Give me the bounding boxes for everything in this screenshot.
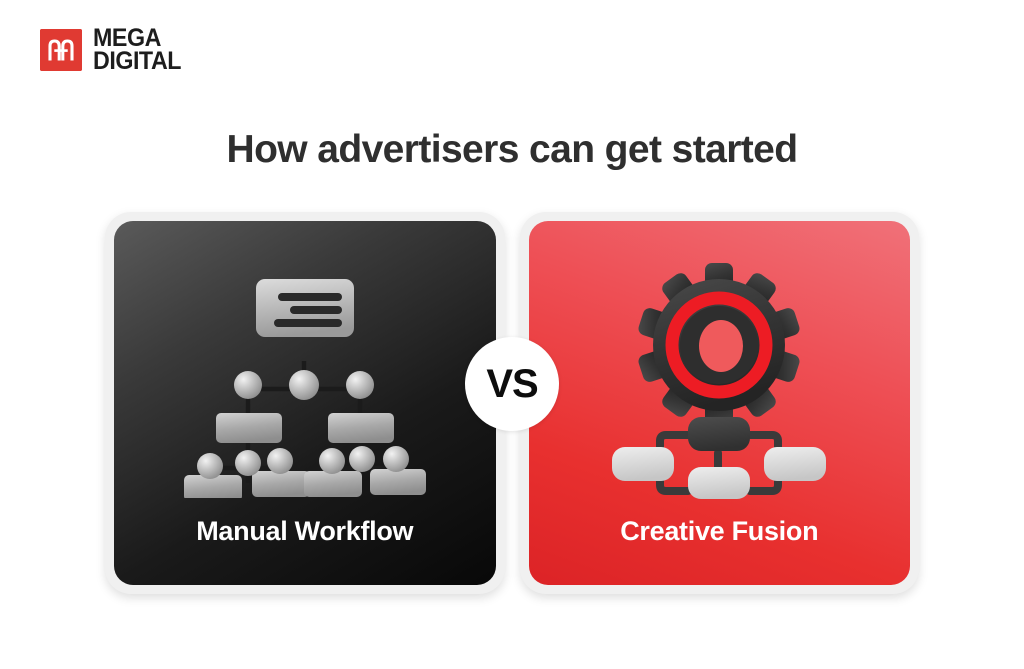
card-surface-creative-fusion: Creative Fusion xyxy=(529,221,911,585)
comparison-card-creative-fusion[interactable]: Creative Fusion xyxy=(520,212,920,594)
diagram-node-box xyxy=(328,413,394,443)
mega-m-logo-icon xyxy=(40,29,82,71)
card-label-creative-fusion: Creative Fusion xyxy=(529,516,911,547)
flow-node-dark xyxy=(688,417,750,451)
org-chart-hierarchy-icon xyxy=(114,255,496,505)
page-title: How advertisers can get started xyxy=(0,128,1024,172)
diagram-node-box xyxy=(252,471,310,497)
brand-name: MEGA DIGITAL xyxy=(93,27,188,74)
flow-node-light xyxy=(688,467,750,499)
diagram-node-box xyxy=(370,469,426,495)
card-surface-manual-workflow: Manual Workflow xyxy=(114,221,496,585)
brand-name-line2: DIGITAL xyxy=(93,50,181,73)
vs-label: VS xyxy=(486,362,537,407)
diagram-document-node xyxy=(256,279,354,337)
vs-divider-badge: VS xyxy=(465,337,559,431)
diagram-node-box xyxy=(216,413,282,443)
diagram-node-box xyxy=(304,471,362,497)
card-label-manual-workflow: Manual Workflow xyxy=(114,516,496,547)
flow-node-light xyxy=(612,447,674,481)
gear-body xyxy=(637,263,802,427)
gear-flowchart-icon xyxy=(529,255,911,505)
flow-node-light xyxy=(764,447,826,481)
brand-logo: MEGA DIGITAL xyxy=(40,27,188,74)
comparison-card-manual-workflow[interactable]: Manual Workflow xyxy=(105,212,505,594)
